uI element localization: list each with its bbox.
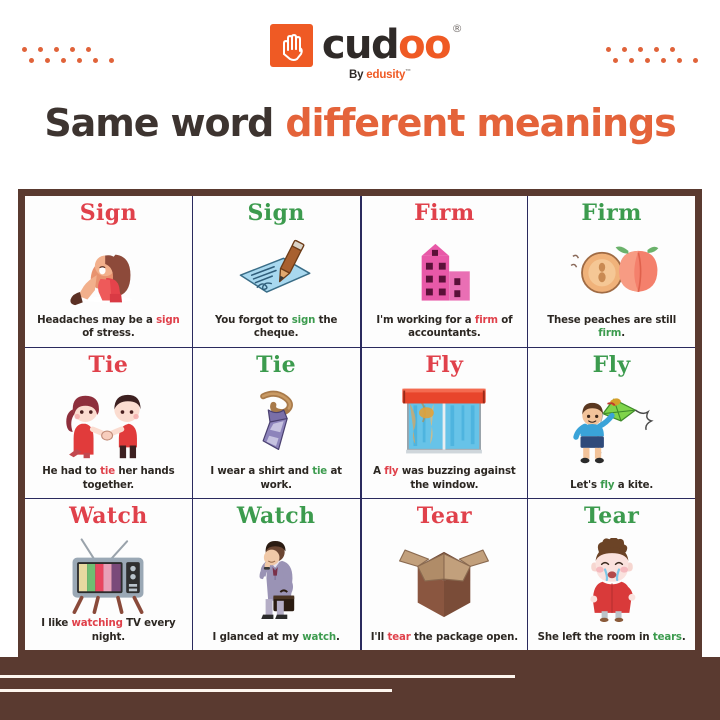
dot [622,47,627,52]
logo-word-part1: cud [322,22,398,68]
dot-row [22,47,114,52]
caption-after: . [621,328,625,339]
caption-after: was buzzing against the window. [398,466,515,490]
caption-after: a kite. [614,480,653,491]
children-holding-hands-icon [32,379,185,466]
word-cell-tie-red[interactable]: Tie [25,348,192,499]
dot [22,47,27,52]
cell-caption: You forgot to sign the cheque. [200,314,353,342]
hand-logo-icon [270,24,313,67]
cell-word: Watch [237,505,316,528]
logo-main-row: cudoo® [270,24,450,67]
caption-highlight: fly [600,480,614,491]
brand-logo: cudoo® By edusity™ [270,24,450,81]
caption-before: Headaches may be a [37,315,156,326]
dot-row [606,47,698,52]
caption-highlight: tie [312,466,327,477]
caption-highlight: watching [71,618,122,629]
caption-after: . [682,632,686,643]
cell-caption: A fly was buzzing against the window. [369,465,521,493]
dot [86,47,91,52]
logo-tagline: By edusity™ [349,69,411,81]
cell-caption: I wear a shirt and tie at work. [200,465,353,493]
caption-highlight: sign [292,315,316,326]
dot [638,47,643,52]
cell-caption: I glanced at my watch. [212,631,341,645]
businessman-checking-watch-icon [200,530,353,630]
cell-caption: He had to tie her hands together. [32,465,185,493]
cell-caption: Headaches may be a sign of stress. [32,314,185,342]
cell-word: Tie [88,354,128,377]
word-cell-tie-green[interactable]: Tie I wear a shirt and tie at work. [193,348,360,499]
word-grid: Sign Headaches may be a sign o [25,196,695,650]
dot [77,58,82,63]
dot [613,58,618,63]
boy-flying-kite-icon [535,379,688,479]
cell-word: Firm [581,202,641,225]
cell-word: Fly [593,354,631,377]
caption-highlight: tear [388,632,411,643]
caption-highlight: fly [384,466,398,477]
dot [661,58,666,63]
crying-girl-icon [535,530,688,630]
dot [606,47,611,52]
word-cell-sign-green[interactable]: Sign [193,196,360,347]
caption-highlight: firm [598,328,621,339]
word-cell-tear-red[interactable]: Tear I'll tear the package open. [361,499,528,650]
title-plain: Same word [44,101,285,145]
window-with-curtains-icon [369,379,521,466]
dot [109,58,114,63]
footer-band [0,657,720,720]
caption-before: I like [41,618,71,629]
word-board: Sign Headaches may be a sign o [18,189,702,657]
word-cell-sign-red[interactable]: Sign Headaches may be a sign o [25,196,192,347]
caption-before: I'm working for a [376,315,475,326]
dot [45,58,50,63]
page-header: cudoo® By edusity™ [0,0,720,104]
dot [677,58,682,63]
dot [38,47,43,52]
cell-word: Sign [80,202,137,225]
dot [629,58,634,63]
cheque-and-pen-icon [200,227,353,314]
tagline-brand: edusity [366,69,405,81]
word-cell-fly-green[interactable]: Fly [528,348,695,499]
registered-mark: ® [452,23,462,34]
word-cell-watch-red[interactable]: Watch [25,499,192,650]
cell-word: Firm [414,202,474,225]
cell-caption: I'm working for a firm of accountants. [369,314,521,342]
caption-before: I'll [371,632,388,643]
dot [29,58,34,63]
caption-before: She left the room in [538,632,653,643]
caption-before: He had to [42,466,100,477]
caption-after: of stress. [82,328,134,339]
page-title: Same word different meanings [0,101,720,145]
cell-word: Tie [256,354,296,377]
word-cell-tear-green[interactable]: Tear [528,499,695,650]
caption-highlight: tears [653,632,682,643]
word-cell-firm-red[interactable]: Firm [361,196,528,347]
retro-television-icon [32,530,185,617]
word-cell-fly-red[interactable]: Fly [361,348,528,499]
caption-before: I wear a shirt and [210,466,312,477]
caption-highlight: sign [156,315,180,326]
decorative-dots-left [22,47,114,63]
caption-before: You forgot to [215,315,292,326]
caption-after: . [336,632,340,643]
cell-word: Fly [425,354,463,377]
dot [54,47,59,52]
dot [70,47,75,52]
cell-word: Tear [584,505,639,528]
dot [645,58,650,63]
caption-highlight: watch [302,632,336,643]
cell-caption: I like watching TV every night. [32,617,185,645]
dot [654,47,659,52]
title-accent: different meanings [285,101,675,145]
cell-caption: She left the room in tears. [537,631,687,645]
cell-caption: I'll tear the package open. [370,631,519,645]
necktie-icon [200,379,353,466]
peaches-icon [535,227,688,314]
word-cell-watch-green[interactable]: Watch [193,499,360,650]
cell-word: Sign [248,202,305,225]
dot [693,58,698,63]
caption-before: These peaches are still [547,315,676,326]
decorative-dots-right [606,47,698,63]
office-building-icon [369,227,521,314]
caption-after: the package open. [411,632,518,643]
dot [61,58,66,63]
trademark-mark: ™ [405,69,411,75]
dot [670,47,675,52]
cell-word: Watch [69,505,148,528]
dot-row [613,58,698,63]
footer-line-1 [0,675,515,678]
cell-word: Tear [417,505,472,528]
person-headache-icon [32,227,185,314]
caption-before: I glanced at my [213,632,303,643]
cell-caption: Let's fly a kite. [569,479,654,493]
caption-highlight: firm [475,315,498,326]
logo-wordmark: cudoo® [322,25,450,65]
caption-before: Let's [570,480,600,491]
caption-before: A [373,466,384,477]
caption-highlight: tie [100,466,115,477]
word-cell-firm-green[interactable]: Firm [528,196,695,347]
footer-line-2 [0,689,392,692]
logo-word-part2: oo [398,22,450,68]
open-cardboard-box-icon [369,530,521,630]
dot-row [29,58,114,63]
cell-caption: These peaches are still firm. [535,314,688,342]
dot [93,58,98,63]
tagline-prefix: By [349,69,366,81]
